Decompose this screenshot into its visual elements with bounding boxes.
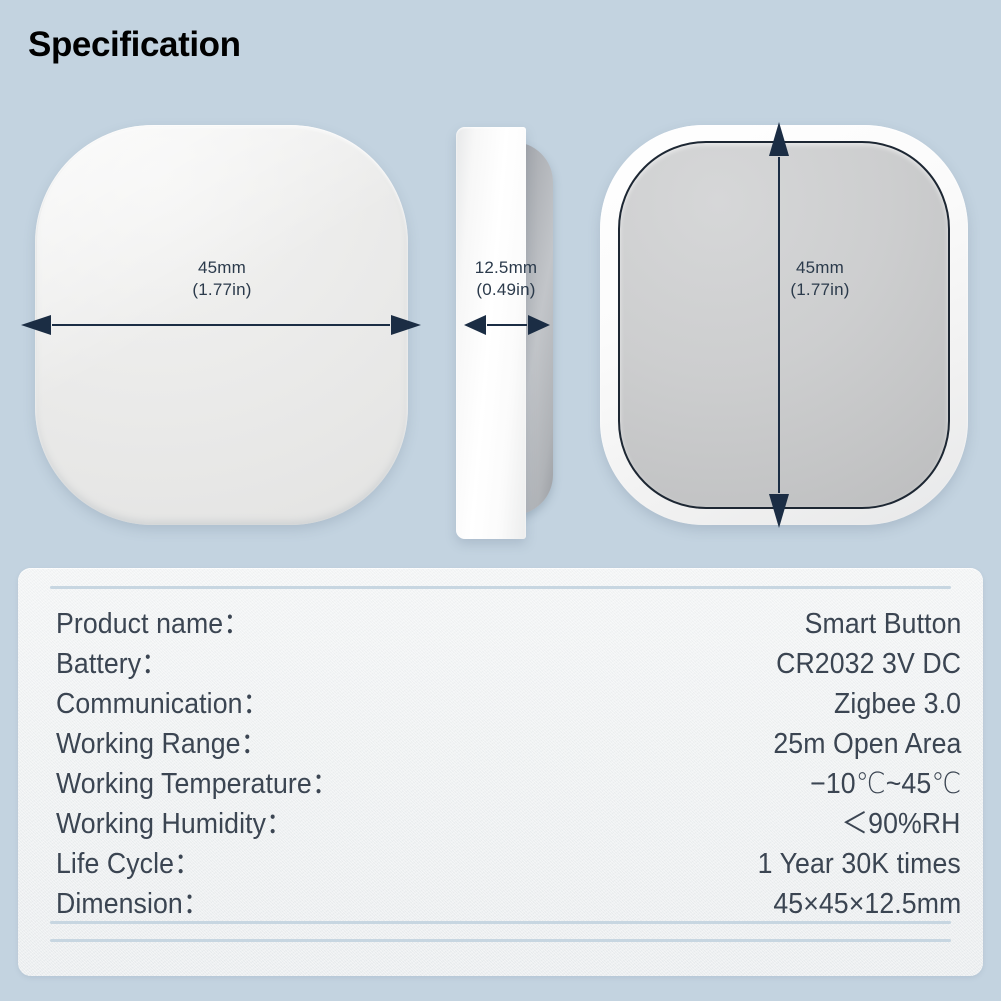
spec-row-label: Communication： [56, 684, 269, 724]
spec-row: Working Temperature：−10℃~45℃ [56, 764, 961, 804]
back-dimension-imperial: (1.77in) [740, 279, 900, 301]
spec-row: Working Range：25m Open Area [56, 724, 961, 764]
spec-row: Product name：Smart Button [56, 604, 961, 644]
specification-card: Product name：Smart ButtonBattery：CR2032 … [18, 568, 983, 976]
spec-row-label: Product name： [56, 604, 250, 644]
back-dimension-metric: 45mm [796, 258, 844, 277]
front-view-dimension-label: 45mm (1.77in) [142, 257, 302, 301]
product-illustration-stage: 45mm (1.77in) 12.5mm (0.49in) 45mm (1.77… [0, 105, 1001, 560]
spec-row-label: Dimension： [56, 884, 210, 924]
side-thickness-arrow-icon [487, 324, 527, 326]
divider-top [50, 586, 951, 589]
spec-row-value: 1 Year 30K times [758, 844, 961, 884]
front-dimension-metric: 45mm [198, 258, 246, 277]
back-view-body [600, 125, 968, 525]
spec-row-value: 25m Open Area [773, 724, 961, 764]
spec-row-value: 45×45×12.5mm [773, 884, 961, 924]
side-view-dimension-label: 12.5mm (0.49in) [406, 257, 606, 301]
spec-row-value: CR2032 3V DC [776, 644, 961, 684]
divider-bottom-2 [50, 939, 951, 942]
back-height-arrow-icon [778, 157, 780, 493]
back-view-dimension-label: 45mm (1.77in) [740, 257, 900, 301]
spec-row-value: ＜90%RH [842, 804, 961, 844]
spec-row-value: Smart Button [804, 604, 961, 644]
spec-row-label: Battery： [56, 644, 168, 684]
back-view-inner-panel [618, 141, 950, 509]
spec-row-value: Zigbee 3.0 [834, 684, 961, 724]
spec-row-label: Life Cycle： [56, 844, 201, 884]
spec-row-label: Working Humidity： [56, 804, 293, 844]
front-dimension-imperial: (1.77in) [142, 279, 302, 301]
spec-row-label: Working Range： [56, 724, 267, 764]
spec-row-value: −10℃~45℃ [810, 764, 961, 804]
page-title: Specification [28, 24, 241, 66]
spec-row: Communication：Zigbee 3.0 [56, 684, 961, 724]
specification-list: Product name：Smart ButtonBattery：CR2032 … [56, 604, 961, 924]
spec-row: Life Cycle：1 Year 30K times [56, 844, 961, 884]
spec-row: Dimension：45×45×12.5mm [56, 884, 961, 924]
front-width-arrow-icon [52, 324, 390, 326]
spec-row: Working Humidity：＜90%RH [56, 804, 961, 844]
spec-row: Battery：CR2032 3V DC [56, 644, 961, 684]
divider-bottom-1 [50, 921, 951, 924]
side-dimension-metric: 12.5mm [475, 258, 538, 277]
spec-row-label: Working Temperature： [56, 764, 339, 804]
side-dimension-imperial: (0.49in) [406, 279, 606, 301]
